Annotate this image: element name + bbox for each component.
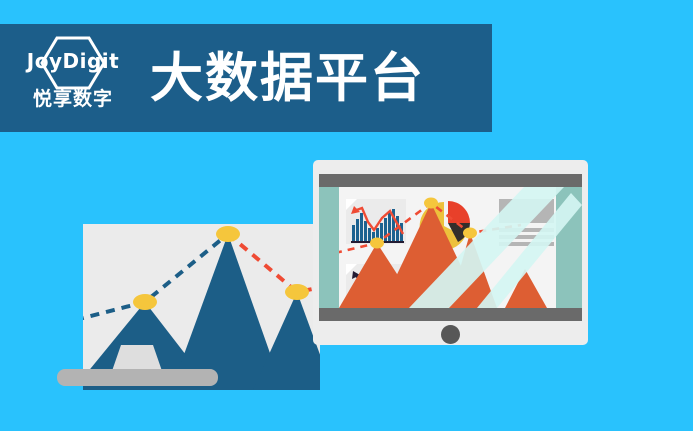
screen-side-band-right — [556, 187, 582, 308]
banner-canvas: JoyDigit 悦享数字 大数据平台 — [0, 0, 693, 431]
logo-subtitle: 悦享数字 — [14, 90, 132, 109]
monitor-bezel-bottom — [319, 308, 582, 321]
brand-logo: JoyDigit 悦享数字 — [14, 32, 132, 124]
page-title: 大数据平台 — [150, 52, 425, 105]
mountain-shapes — [339, 203, 547, 308]
screen-mountain-chart — [339, 187, 556, 308]
monitor-bezel-top — [319, 174, 582, 187]
webcam-icon — [441, 325, 460, 344]
monitor-screen — [319, 187, 582, 308]
logo-wordmark: JoyDigit — [14, 51, 132, 71]
monitor-stand-base — [57, 369, 218, 386]
monitor — [313, 160, 588, 345]
header-banner: JoyDigit 悦享数字 大数据平台 — [0, 24, 492, 132]
screen-side-band-left — [319, 187, 339, 308]
